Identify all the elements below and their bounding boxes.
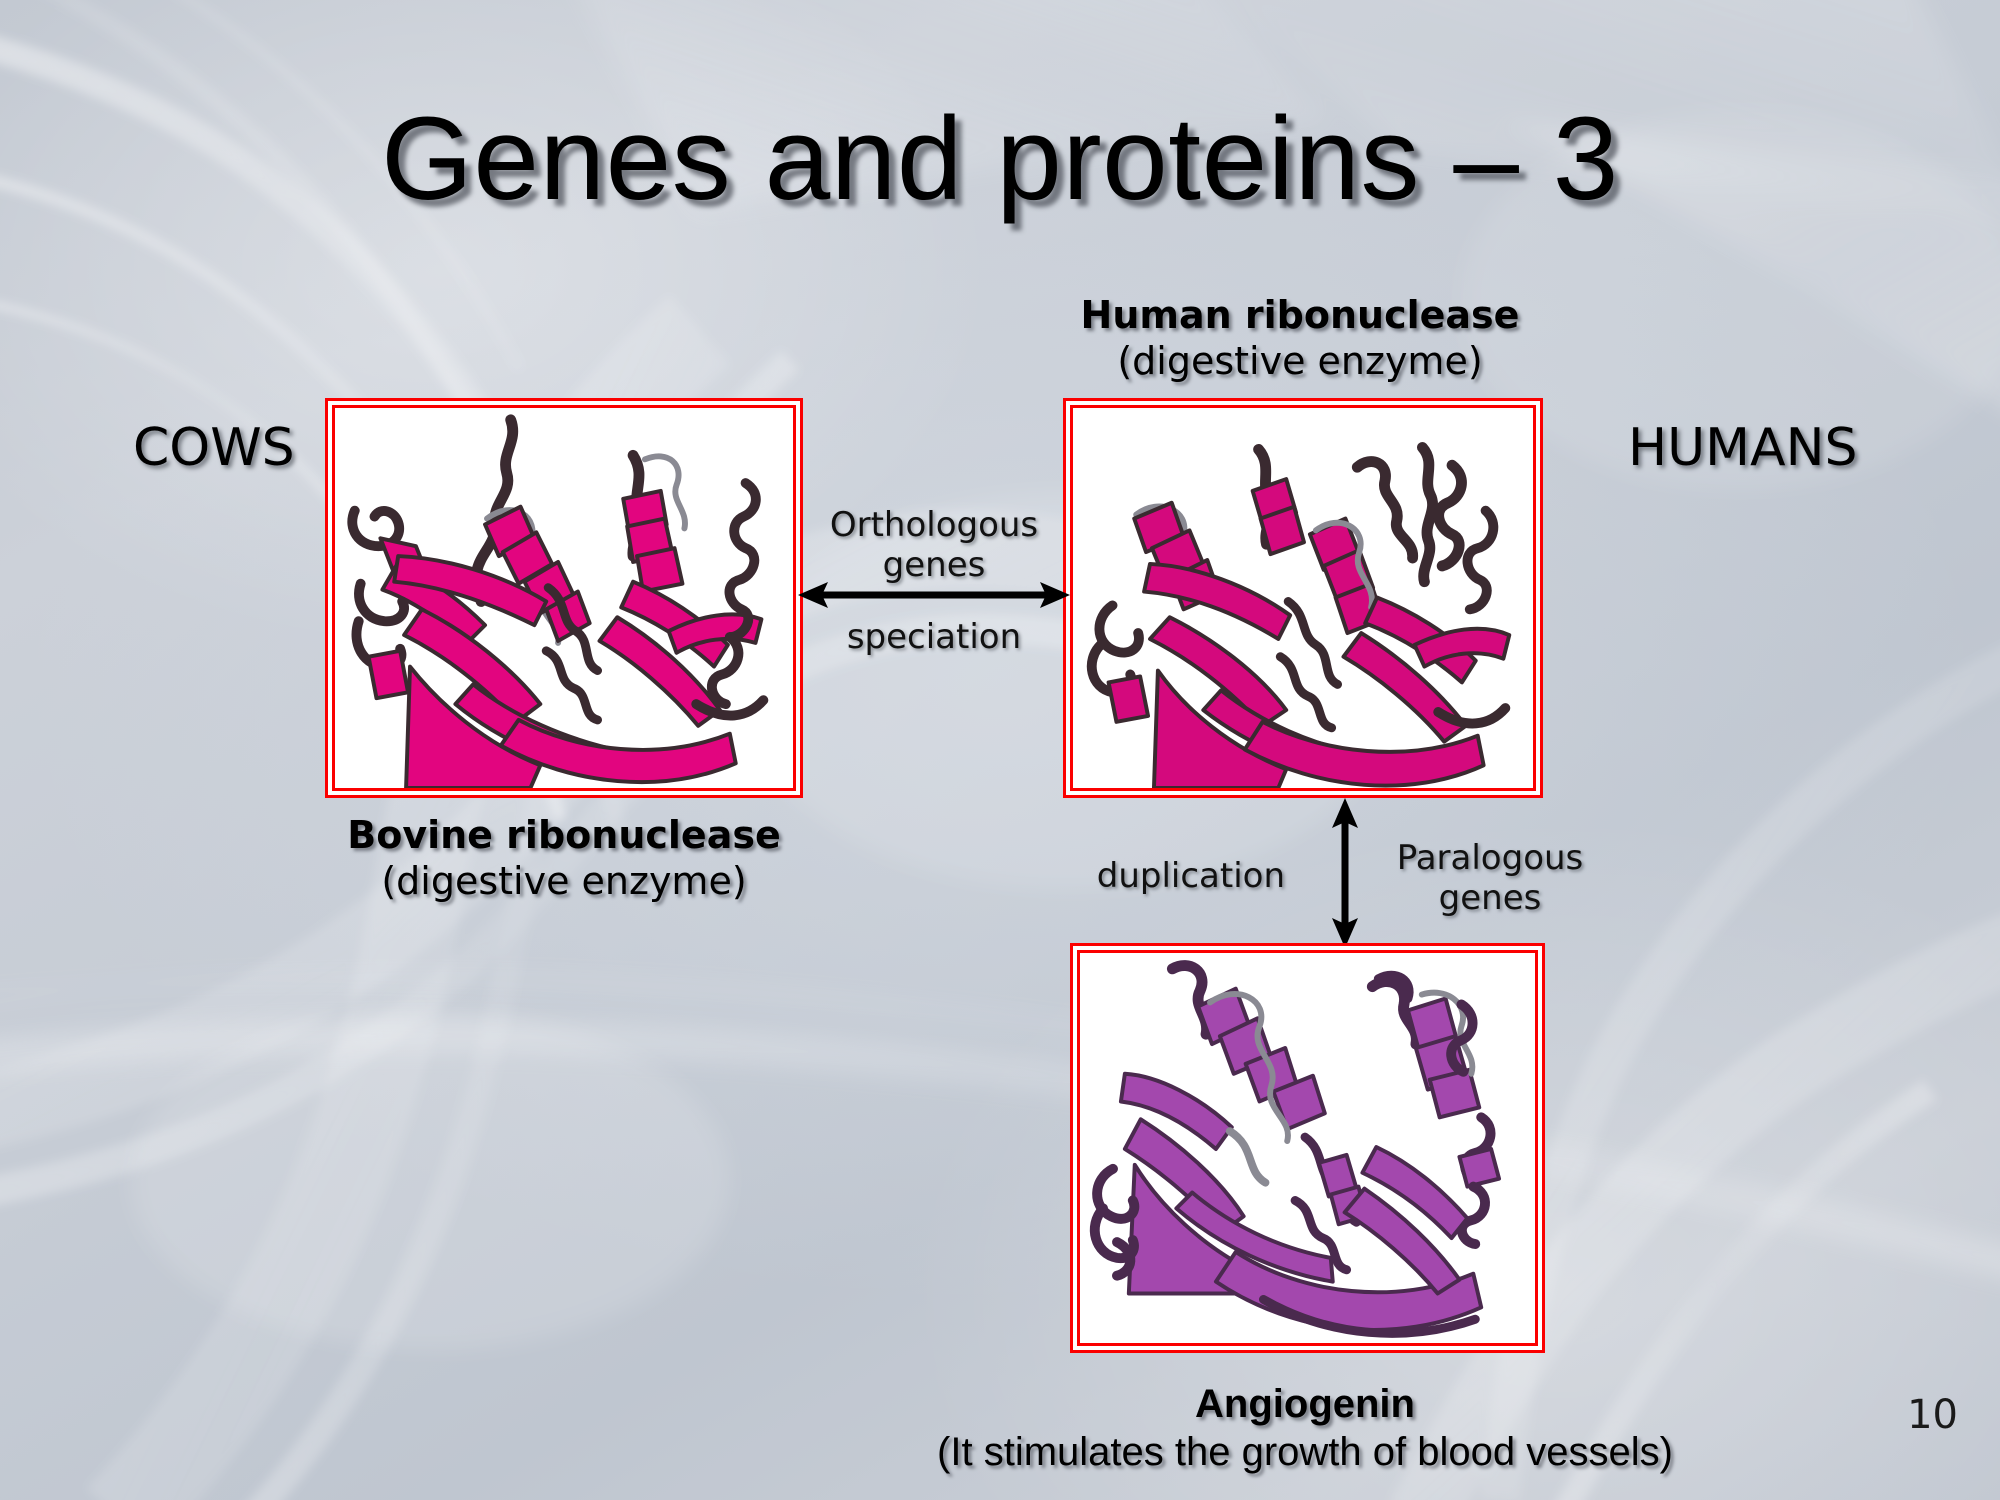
caption-bovine-ribonuclease-note: (digestive enzyme) — [324, 858, 804, 904]
label-orthologous-genes: Orthologous genes — [760, 505, 1108, 585]
label-paralogous-line1: Paralogous — [1397, 838, 1584, 878]
image-frame-bovine-ribonuclease — [325, 398, 803, 798]
arrow-paralogous-vertical — [1325, 798, 1365, 948]
label-orthologous-line1: Orthologous — [830, 505, 1038, 545]
caption-angiogenin-name: Angiogenin — [680, 1380, 1930, 1428]
caption-bovine-ribonuclease: Bovine ribonuclease (digestive enzyme) — [324, 812, 804, 905]
protein-image-bovine-ribonuclease — [332, 405, 796, 791]
caption-human-ribonuclease: Human ribonuclease (digestive enzyme) — [980, 292, 1620, 385]
page-title: Genes and proteins – 3 — [0, 96, 2000, 223]
arrow-orthologous-horizontal — [798, 575, 1070, 615]
label-cows: COWS — [133, 418, 295, 478]
caption-angiogenin-note: (It stimulates the growth of blood vesse… — [680, 1428, 1930, 1476]
page-number: 10 — [1907, 1392, 1958, 1438]
bg-strand-horizontal — [0, 977, 2000, 1270]
protein-image-angiogenin — [1077, 950, 1538, 1346]
label-duplication: duplication — [1085, 856, 1285, 896]
protein-image-human-ribonuclease — [1070, 405, 1536, 791]
caption-bovine-ribonuclease-name: Bovine ribonuclease — [324, 812, 804, 858]
label-humans: HUMANS — [1628, 418, 1858, 478]
label-paralogous-genes: Paralogous genes — [1380, 838, 1600, 918]
caption-angiogenin: Angiogenin (It stimulates the growth of … — [680, 1380, 1930, 1476]
image-frame-human-ribonuclease — [1063, 398, 1543, 798]
dna-background-art — [0, 0, 2000, 1500]
label-speciation: speciation — [760, 617, 1108, 657]
caption-human-ribonuclease-note: (digestive enzyme) — [980, 338, 1620, 384]
slide-canvas: Genes and proteins – 3 Human ribonucleas… — [0, 0, 2000, 1500]
label-paralogous-line2: genes — [1439, 878, 1542, 918]
caption-human-ribonuclease-name: Human ribonuclease — [980, 292, 1620, 338]
image-frame-angiogenin — [1070, 943, 1545, 1353]
